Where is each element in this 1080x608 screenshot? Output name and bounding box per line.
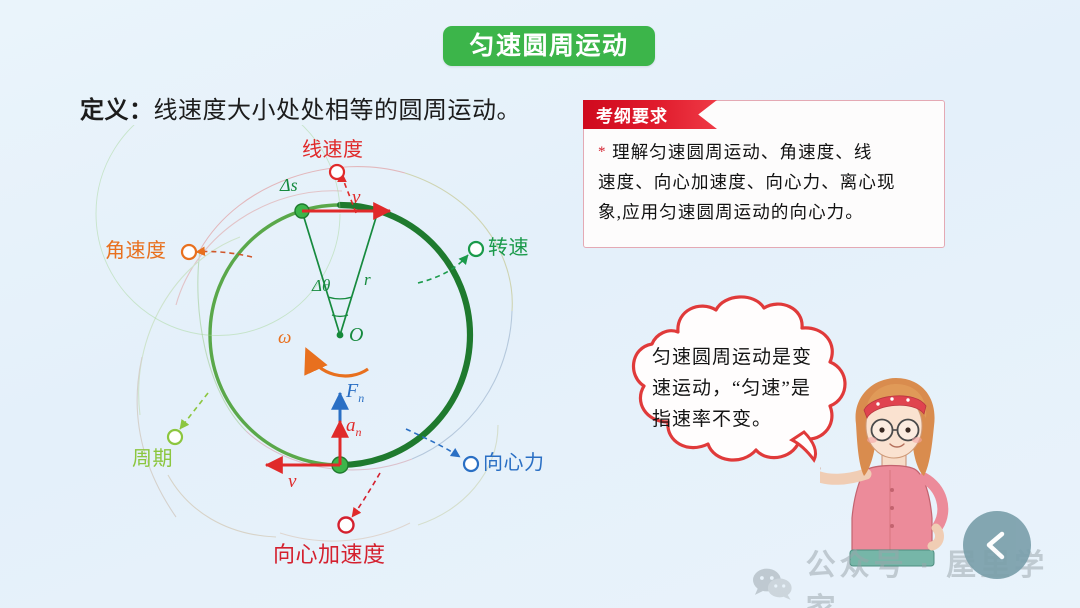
wechat-icon [752,567,794,601]
radius-label: r [364,270,371,289]
node-marker-rotation-speed[interactable] [469,242,483,256]
syllabus-box: 考纲要求 * 理解匀速圆周运动、角速度、线 速度、向心加速度、向心力、离心现 象… [583,100,945,248]
guide-arcs [137,167,512,541]
bubble-line-1: 匀速圆周运动是变 [652,342,842,373]
label-rotation-speed[interactable]: 转速 [488,231,529,260]
force-label: Fn [345,380,364,405]
page-title: 匀速圆周运动 [469,34,628,59]
syllabus-line-1: * 理解匀速圆周运动、角速度、线 [598,137,934,167]
slide-canvas: 匀速圆周运动 定义：线速度大小处处相等的圆周运动。 考纲要求 * 理解匀速圆周运… [0,0,1080,608]
connector-period [180,393,208,429]
node-marker-centripetal-force[interactable] [464,457,478,471]
delta-s-label: Δs [279,175,298,195]
center-point [337,332,344,339]
label-linear-velocity[interactable]: 线速度 [302,133,364,162]
back-button[interactable] [963,511,1031,579]
definition-line: 定义：线速度大小处处相等的圆周运动。 [80,90,521,125]
page-title-banner: 匀速圆周运动 [443,26,655,66]
node-marker-angular-velocity[interactable] [182,245,196,259]
syllabus-line-2: 速度、向心加速度、向心力、离心现 [598,167,934,197]
node-marker-linear-velocity[interactable] [330,165,344,179]
node-marker-centripetal-accel[interactable] [339,518,354,533]
syllabus-line-1-text: 理解匀速圆周运动、角速度、线 [612,142,872,162]
bubble-line-3: 指速率不变。 [652,404,842,435]
label-period[interactable]: 周期 [132,442,173,471]
delta-theta-label: Δθ [311,276,330,295]
omega-arrow [308,353,368,376]
watermark-text: 公众号 · 屋里学家 [806,540,1080,608]
speech-bubble-text: 匀速圆周运动是变 速运动，“匀速”是 指速率不变。 [652,342,842,435]
bubble-line-2: 速运动，“匀速”是 [652,373,842,404]
label-centripetal-accel[interactable]: 向心加速度 [273,537,386,569]
label-centripetal-force[interactable]: 向心力 [483,446,545,475]
syllabus-line-3: 象,应用匀速圆周运动的向心力。 [598,197,934,227]
syllabus-ribbon-label: 考纲要求 [596,102,668,127]
definition-lead: 定义： [80,98,154,124]
diagram-svg: O ω Δs r Δθ v Fn an v [80,125,600,555]
center-label: O [349,324,363,346]
circular-motion-diagram: O ω Δs r Δθ v Fn an v [80,125,600,555]
label-angular-velocity[interactable]: 角速度 [105,234,167,263]
velocity-bottom-label: v [288,471,297,492]
syllabus-text: * 理解匀速圆周运动、角速度、线 速度、向心加速度、向心力、离心现 象,应用匀速… [598,137,934,227]
connector-centripetal-accel [352,473,380,517]
velocity-top-label: v [352,187,361,208]
definition-body: 线速度大小处处相等的圆周运动。 [154,98,522,124]
omega-label: ω [278,327,291,348]
syllabus-ribbon: 考纲要求 [583,100,717,129]
chevron-left-icon [981,529,1013,561]
watermark: 公众号 · 屋里学家 [752,540,1080,608]
accel-label: an [346,415,362,439]
